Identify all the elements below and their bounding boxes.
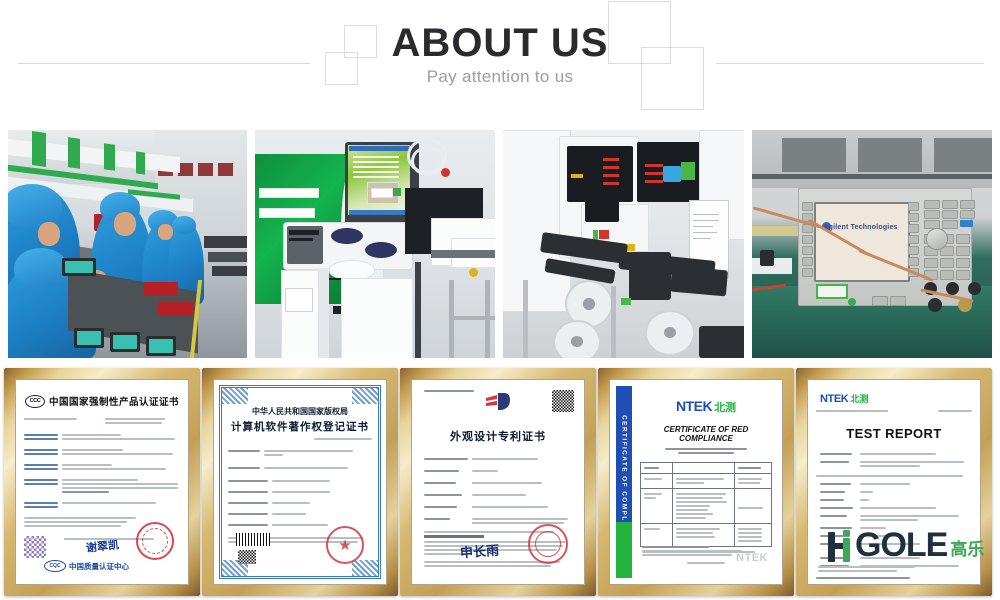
ntek-logo-zh: 北测 (850, 392, 868, 405)
ntek-watermark: NTEK (736, 552, 768, 564)
copyright-title-line1: 中华人民共和国国家版权局 (228, 406, 372, 417)
ccc-issuer: 中国质量认证中心 (69, 561, 129, 572)
certificate-software-copyright-document: 中华人民共和国国家版权局 计算机软件著作权登记证书 (214, 380, 386, 584)
photo-pick-and-place-machines (503, 130, 744, 358)
compliance-standards-table (640, 462, 772, 547)
certificate-ccc-document: CCC 中国国家强制性产品认证证书 (16, 380, 188, 584)
ccc-title: 中国国家强制性产品认证证书 (49, 394, 179, 408)
page-subtitle: Pay attention to us (0, 66, 1000, 88)
barcode-icon (236, 533, 270, 546)
ccc-signature: 谢翠凯 (85, 536, 119, 555)
photo-agilent-test-equipment: Agilent Technologies (752, 130, 993, 358)
official-seal-icon (136, 522, 174, 560)
certificate-ccc[interactable]: CCC 中国国家强制性产品认证证书 (4, 368, 200, 596)
ntek-logo-text: NTEK (820, 393, 848, 405)
cqc-badge-icon: CQC (44, 560, 66, 572)
ntek-logo: NTEK 北测 (636, 398, 776, 415)
ntek-logo: NTEK 北测 (820, 392, 972, 405)
qr-code-icon (552, 390, 574, 412)
test-report-title: TEST REPORT (816, 426, 972, 441)
patent-signature: 申长雨 (459, 540, 499, 562)
cnipa-logo-icon (484, 392, 512, 412)
copyright-title-line2: 计算机软件著作权登记证书 (228, 419, 372, 434)
official-seal-icon: ★ (326, 526, 364, 564)
qr-code-icon (24, 536, 46, 558)
photo-assembly-line (8, 130, 247, 358)
ccc-mark-icon: CCC (25, 395, 45, 408)
certificate-software-copyright[interactable]: 中华人民共和国国家版权局 计算机软件著作权登记证书 (202, 368, 398, 596)
certificate-design-patent-document: 外观设计专利证书 (412, 380, 584, 584)
about-us-page: ABOUT US Pay attention to us (0, 0, 1000, 600)
ntek-logo-zh: 北测 (714, 399, 736, 415)
qr-code-icon (238, 550, 256, 564)
higole-wordmark: GOLE (855, 528, 947, 562)
facility-photo-strip: Agilent Technologies (8, 130, 992, 358)
certificate-design-patent[interactable]: 外观设计专利证书 (400, 368, 596, 596)
compliance-sidebar-accent (616, 522, 632, 578)
page-header: ABOUT US Pay attention to us (0, 0, 1000, 120)
higole-brand-logo: GOLE 高乐 (828, 528, 984, 562)
red-compliance-title: CERTIFICATE OF RED COMPLIANCE (636, 425, 776, 443)
certificate-red-compliance[interactable]: CERTIFICATE OF COMPLIANCE NTEK 北测 CERTIF… (598, 368, 794, 596)
official-seal-icon (528, 524, 568, 564)
higole-wordmark-zh: 高乐 (950, 540, 984, 560)
photo-smt-inspection-machine (255, 130, 496, 358)
page-title: ABOUT US (0, 20, 1000, 66)
certificate-red-compliance-document: CERTIFICATE OF COMPLIANCE NTEK 北测 CERTIF… (610, 380, 782, 584)
ntek-logo-text: NTEK (676, 398, 712, 414)
higole-mark-icon (828, 528, 854, 562)
patent-title: 外观设计专利证书 (424, 428, 572, 444)
